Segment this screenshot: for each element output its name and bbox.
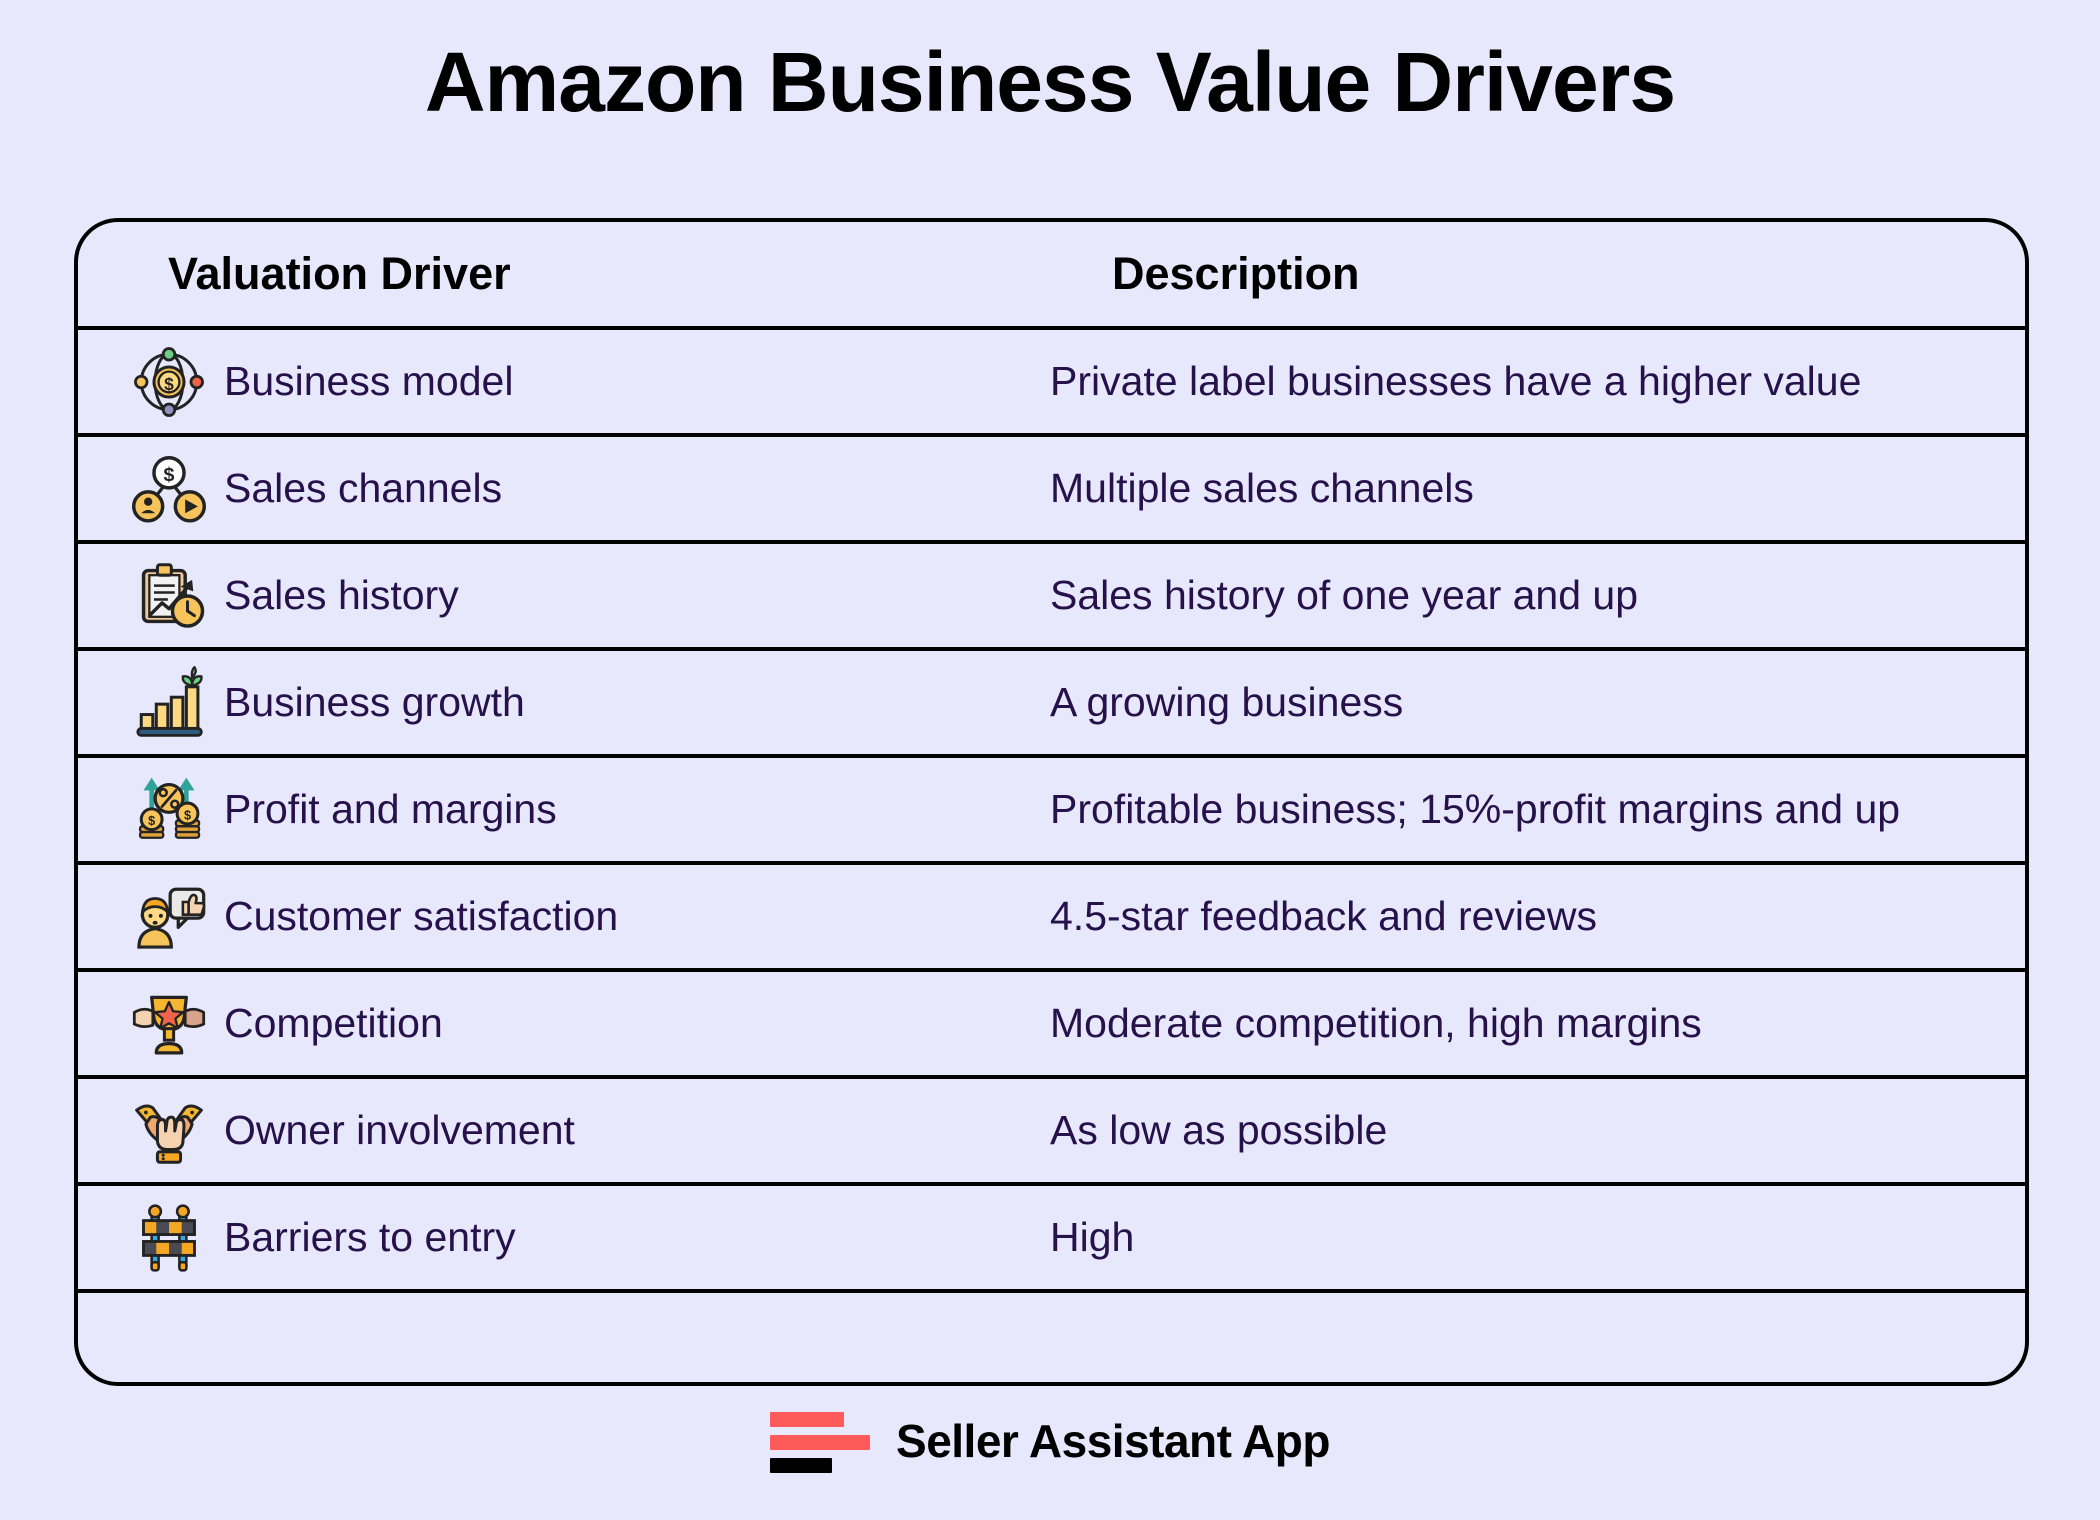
brand-name: Seller Assistant App bbox=[896, 1414, 1330, 1468]
seller-assistant-logo-icon bbox=[770, 1408, 870, 1473]
cell-driver: $ Business model bbox=[78, 345, 988, 419]
description-text: Private label businesses have a higher v… bbox=[1050, 358, 1861, 404]
driver-label: Sales history bbox=[224, 572, 459, 619]
svg-text:$: $ bbox=[184, 807, 191, 822]
logo-bar-2 bbox=[770, 1435, 870, 1450]
header-cell-driver: Valuation Driver bbox=[78, 248, 988, 300]
svg-text:$: $ bbox=[164, 463, 175, 485]
cell-description: 4.5-star feedback and reviews bbox=[988, 893, 2025, 940]
cell-driver: Owner involvement bbox=[78, 1094, 988, 1168]
table-row: $ Sales channels Multiple sales channels bbox=[78, 437, 2025, 544]
cell-driver: Barriers to entry bbox=[78, 1201, 988, 1275]
description-text: As low as possible bbox=[1050, 1107, 1387, 1153]
coin-network-icon: $ bbox=[114, 345, 224, 419]
cell-description: Profitable business; 15%-profit margins … bbox=[988, 786, 2025, 833]
cell-description: As low as possible bbox=[988, 1107, 2025, 1154]
cell-description: Private label businesses have a higher v… bbox=[988, 358, 2025, 405]
driver-label: Owner involvement bbox=[224, 1107, 575, 1154]
description-text: 4.5-star feedback and reviews bbox=[1050, 893, 1597, 939]
svg-text:$: $ bbox=[148, 813, 155, 828]
growth-bar-chart-plant-icon bbox=[114, 666, 224, 740]
logo-bar-3 bbox=[770, 1458, 832, 1473]
table-row: Business growth A growing business bbox=[78, 651, 2025, 758]
driver-label: Customer satisfaction bbox=[224, 893, 618, 940]
cell-driver: Competition bbox=[78, 987, 988, 1061]
table-row: Sales history Sales history of one year … bbox=[78, 544, 2025, 651]
description-text: A growing business bbox=[1050, 679, 1403, 725]
cell-description: Sales history of one year and up bbox=[988, 572, 2025, 619]
table-header-row: Valuation Driver Description bbox=[78, 222, 2025, 330]
cell-driver: Sales history bbox=[78, 559, 988, 633]
driver-label: Barriers to entry bbox=[224, 1214, 516, 1261]
sales-channels-network-icon: $ bbox=[114, 452, 224, 526]
description-text: Moderate competition, high margins bbox=[1050, 1000, 1702, 1046]
logo-bar-1 bbox=[770, 1412, 844, 1427]
person-thumbs-up-icon bbox=[114, 880, 224, 954]
cell-driver: $ Sales channels bbox=[78, 452, 988, 526]
cell-driver: Business growth bbox=[78, 666, 988, 740]
driver-label: Sales channels bbox=[224, 465, 502, 512]
road-barrier-icon bbox=[114, 1201, 224, 1275]
driver-label: Business growth bbox=[224, 679, 525, 726]
table-row: Competition Moderate competition, high m… bbox=[78, 972, 2025, 1079]
page-title: Amazon Business Value Drivers bbox=[0, 0, 2100, 126]
clipboard-chart-clock-icon bbox=[114, 559, 224, 633]
column-header-description: Description bbox=[1050, 248, 1360, 299]
value-drivers-table: Valuation Driver Description $ bbox=[74, 218, 2029, 1386]
cell-driver: Customer satisfaction bbox=[78, 880, 988, 954]
description-text: High bbox=[1050, 1214, 1134, 1260]
driver-label: Business model bbox=[224, 358, 513, 405]
description-text: Profitable business; 15%-profit margins … bbox=[1050, 786, 1900, 832]
cell-description: A growing business bbox=[988, 679, 2025, 726]
percent-coins-arrows-icon: $ $ bbox=[114, 773, 224, 847]
header-cell-description: Description bbox=[988, 248, 2025, 300]
hands-together-icon bbox=[114, 1094, 224, 1168]
footer-branding: Seller Assistant App bbox=[0, 1408, 2100, 1473]
table-row: $ Business model Private label businesse… bbox=[78, 330, 2025, 437]
description-text: Multiple sales channels bbox=[1050, 465, 1474, 511]
cell-description: Multiple sales channels bbox=[988, 465, 2025, 512]
infographic-page: Amazon Business Value Drivers Valuation … bbox=[0, 0, 2100, 1520]
svg-text:$: $ bbox=[164, 374, 174, 394]
table-row: Barriers to entry High bbox=[78, 1186, 2025, 1293]
column-header-valuation-driver: Valuation Driver bbox=[114, 248, 511, 300]
table-row: Owner involvement As low as possible bbox=[78, 1079, 2025, 1186]
description-text: Sales history of one year and up bbox=[1050, 572, 1638, 618]
cell-description: High bbox=[988, 1214, 2025, 1261]
driver-label: Competition bbox=[224, 1000, 443, 1047]
table-bottom-spacer bbox=[78, 1293, 2025, 1386]
driver-label: Profit and margins bbox=[224, 786, 557, 833]
table-row: $ $ Profit and margins Profitable busine… bbox=[78, 758, 2025, 865]
trophy-hands-icon bbox=[114, 987, 224, 1061]
cell-driver: $ $ Profit and margins bbox=[78, 773, 988, 847]
cell-description: Moderate competition, high margins bbox=[988, 1000, 2025, 1047]
table-row: Customer satisfaction 4.5-star feedback … bbox=[78, 865, 2025, 972]
